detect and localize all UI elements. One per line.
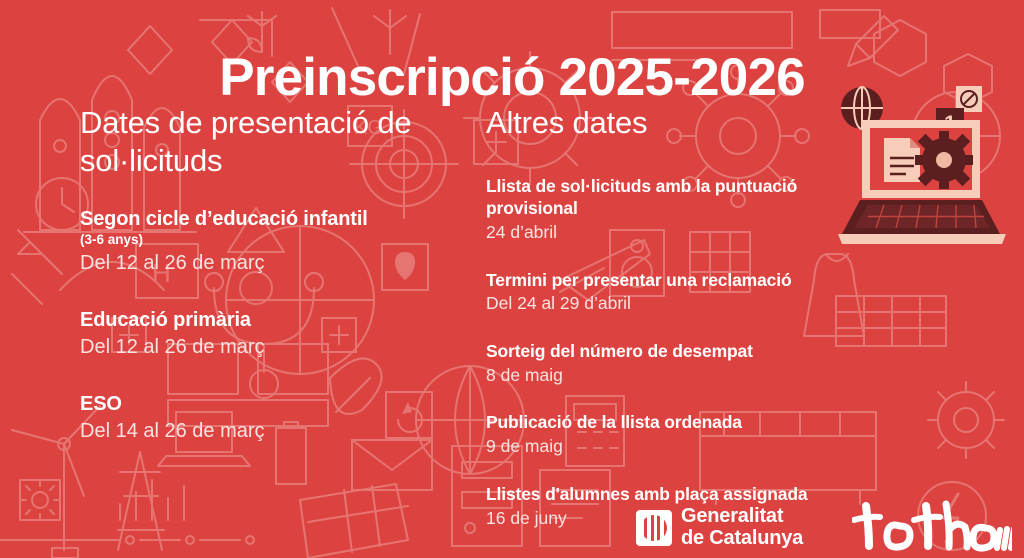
page-title: Preinscripció 2025-2026 [0,50,1024,106]
schedule-entry: Educació primària Del 12 al 26 de març [80,308,460,360]
entry-title: Sorteig del número de desempat [486,341,836,363]
schedule-entry: Publicació de la llista ordenada 9 de ma… [486,412,836,457]
entry-title: Llista de sol·licituds amb la puntuació … [486,176,836,219]
schedule-entry: Sorteig del número de desempat 8 de maig [486,341,836,386]
schedule-entry: ESO Del 14 al 26 de març [80,392,460,444]
entry-date: Del 14 al 26 de març [80,418,460,444]
entry-title: Termini per presentar una reclamació [486,270,836,292]
preinscripcio-poster: H [0,0,1024,558]
schedule-entry: Segon cicle d’educació infantil (3-6 any… [80,207,460,276]
entry-title: Publicació de la llista ordenada [486,412,836,434]
generalitat-logo-text: Generalitat de Catalunya [681,506,803,549]
generalitat-logo: Generalitat de Catalunya [636,506,803,549]
entry-title: Segon cicle d’educació infantil [80,207,460,231]
left-column: Dates de presentació de sol·licituds Seg… [80,104,460,476]
left-column-heading: Dates de presentació de sol·licituds [80,104,460,181]
entry-subtitle: (3-6 anys) [80,232,460,249]
entry-date: 8 de maig [486,364,836,387]
entry-title: Llistes d'alumnes amb plaça assignada [486,484,836,506]
entry-title: ESO [80,392,460,416]
senyera-shield-icon [636,510,672,546]
right-column-heading: Altres dates [486,104,836,142]
entry-date: Del 12 al 26 de març [80,334,460,360]
generalitat-line-1: Generalitat [681,506,803,528]
entry-title: Educació primària [80,308,460,332]
entry-date: Del 24 al 29 d’abril [486,292,836,315]
entry-date: 9 de maig [486,435,836,458]
entry-date: 24 d’abril [486,221,836,244]
gear-icon [915,131,973,189]
schedule-entry: Llista de sol·licituds amb la puntuació … [486,176,836,243]
document-icon [884,138,920,182]
schedule-entry: Termini per presentar una reclamació Del… [486,270,836,315]
generalitat-line-2: de Catalunya [681,528,803,550]
entry-date: Del 12 al 26 de març [80,250,460,276]
laptop-illustration: 1 [824,82,1024,250]
tothom-logo [852,500,1012,558]
right-column: Altres dates Llista de sol·licituds amb … [486,104,836,529]
